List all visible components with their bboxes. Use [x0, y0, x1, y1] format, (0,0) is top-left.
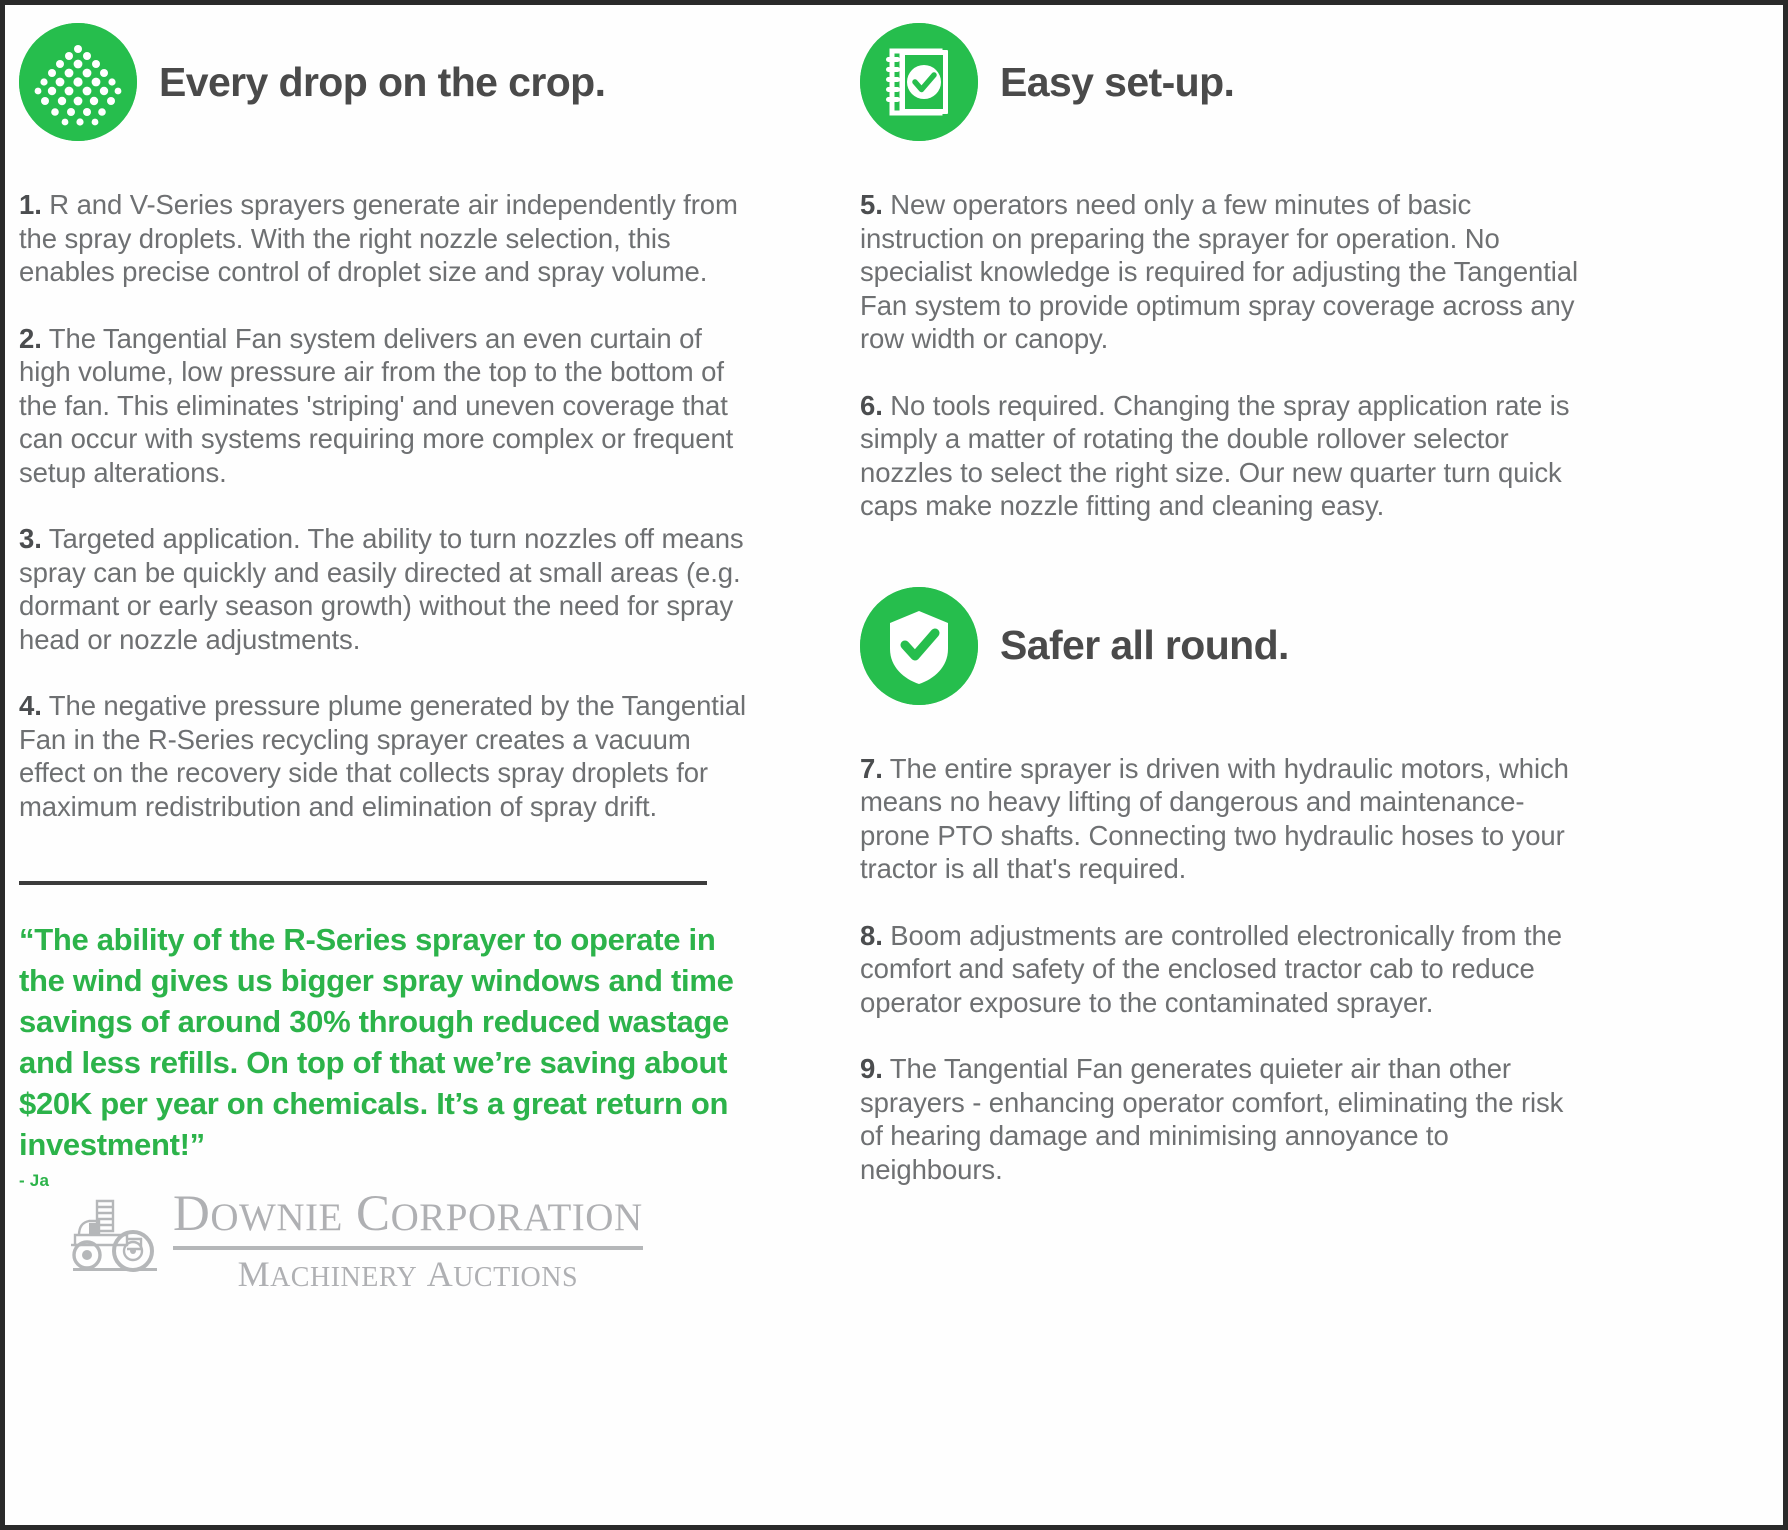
watermark-d: D: [173, 1186, 210, 1242]
feature-item-2: 2. The Tangential Fan system delivers an…: [19, 322, 749, 490]
item-number: 5.: [860, 189, 883, 220]
item-text: The negative pressure plume generated by…: [19, 690, 746, 822]
feature-item-4: 4. The negative pressure plume generated…: [19, 689, 749, 823]
feature-item-7: 7. The entire sprayer is driven with hyd…: [860, 752, 1590, 886]
item-text: No tools required. Changing the spray ap…: [860, 390, 1569, 522]
watermark-line-2: MACHINERY AUCTIONS: [173, 1254, 643, 1298]
item-text: R and V-Series sprayers generate air ind…: [19, 189, 738, 287]
item-text: New operators need only a few minutes of…: [860, 189, 1578, 354]
feature-item-9: 9. The Tangential Fan generates quieter …: [860, 1052, 1590, 1186]
feature-item-8: 8. Boom adjustments are controlled elect…: [860, 919, 1590, 1020]
feature-item-1: 1. R and V-Series sprayers generate air …: [19, 188, 749, 289]
spray-droplets-icon: [19, 23, 137, 141]
notebook-check-icon: [860, 23, 978, 141]
quote-attribution: - Ja: [19, 1171, 749, 1191]
item-text: The Tangential Fan generates quieter air…: [860, 1053, 1563, 1185]
left-column: Every drop on the crop. 1. R and V-Serie…: [19, 5, 749, 1191]
item-number: 1.: [19, 189, 42, 220]
right-column: Easy set-up. 5. New operators need only …: [860, 5, 1590, 1186]
section-header-easy-setup: Easy set-up.: [860, 23, 1590, 141]
item-text: The entire sprayer is driven with hydrau…: [860, 753, 1569, 885]
feature-item-5: 5. New operators need only a few minutes…: [860, 188, 1590, 356]
watermark-line-1: DOWNIE CORPORATION: [173, 1187, 643, 1245]
watermark-a: A: [427, 1254, 454, 1294]
watermark-ownie: OWNIE: [210, 1196, 342, 1239]
watermark-achinery: ACHINERY: [270, 1262, 417, 1293]
feature-item-6: 6. No tools required. Changing the spray…: [860, 389, 1590, 523]
item-number: 9.: [860, 1053, 883, 1084]
item-text: The Tangential Fan system delivers an ev…: [19, 323, 733, 488]
tractor-icon: [67, 1195, 163, 1273]
brochure-content: Every drop on the crop. 1. R and V-Serie…: [5, 5, 1783, 1525]
brochure-page: Every drop on the crop. 1. R and V-Serie…: [0, 0, 1788, 1530]
section-title: Every drop on the crop.: [159, 59, 605, 106]
shield-check-icon: [860, 587, 978, 705]
item-number: 2.: [19, 323, 42, 354]
feature-item-3: 3. Targeted application. The ability to …: [19, 522, 749, 656]
customer-quote: “The ability of the R-Series sprayer to …: [19, 919, 749, 1165]
downie-corporation-watermark: DOWNIE CORPORATION MACHINERY AUCTIONS: [67, 1187, 643, 1298]
section-title: Easy set-up.: [1000, 59, 1234, 106]
watermark-text: DOWNIE CORPORATION MACHINERY AUCTIONS: [173, 1187, 643, 1298]
watermark-c: C: [356, 1186, 391, 1242]
item-text: Targeted application. The ability to tur…: [19, 523, 744, 655]
item-number: 6.: [860, 390, 883, 421]
section-header-every-drop: Every drop on the crop.: [19, 23, 749, 141]
item-text: Boom adjustments are controlled electron…: [860, 920, 1562, 1018]
watermark-orporation: ORPORATION: [391, 1196, 643, 1239]
item-number: 4.: [19, 690, 42, 721]
item-number: 8.: [860, 920, 883, 951]
watermark-rule: [173, 1246, 643, 1250]
watermark-uctions: UCTIONS: [453, 1262, 578, 1293]
item-number: 3.: [19, 523, 42, 554]
section-title: Safer all round.: [1000, 622, 1289, 669]
section-header-safer-all-round: Safer all round.: [860, 587, 1590, 705]
item-number: 7.: [860, 753, 883, 784]
watermark-m: M: [238, 1254, 271, 1294]
